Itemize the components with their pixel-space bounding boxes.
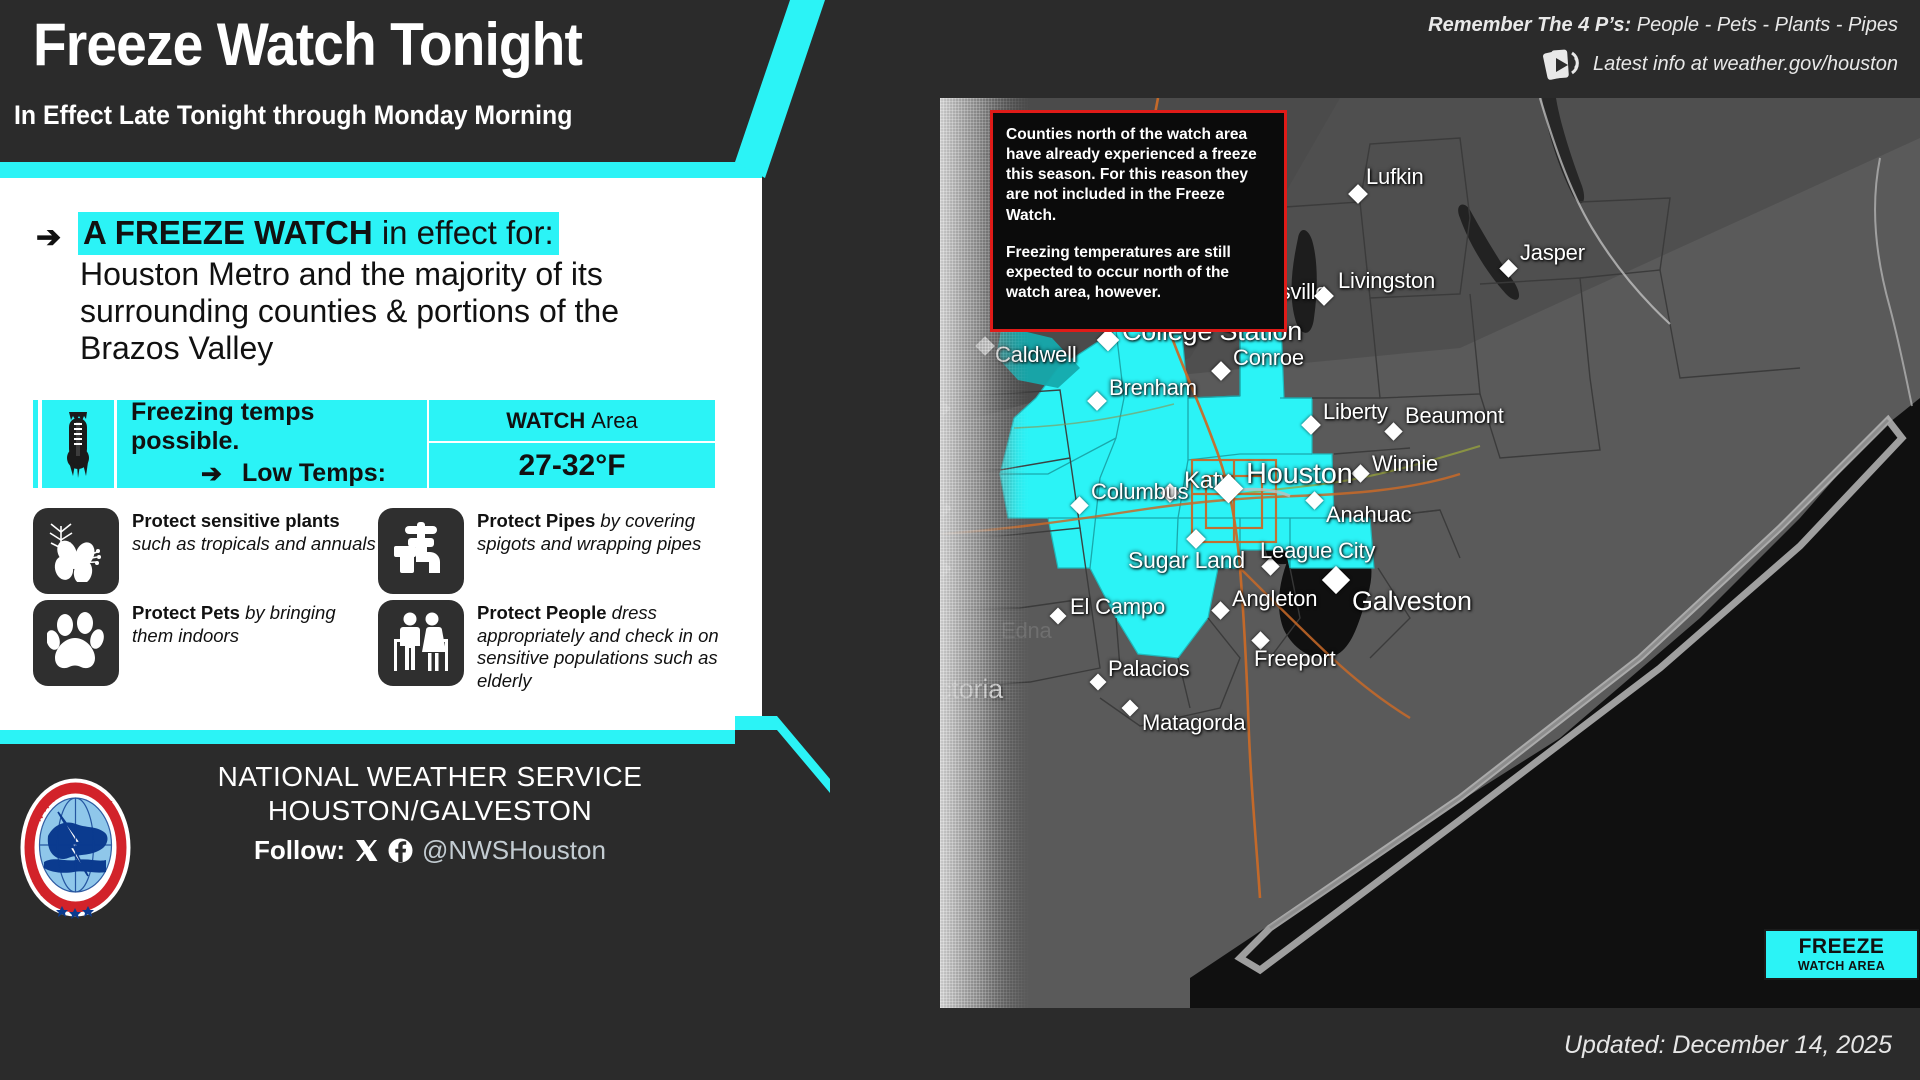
map-city-label: Angleton: [1232, 586, 1317, 612]
low-temps-label: Low Temps:: [242, 459, 386, 488]
tip-text: Protect Pipes by covering spigots and wr…: [477, 508, 743, 594]
tip-title: Protect People: [477, 602, 607, 623]
map-city-label: League City: [1260, 538, 1375, 564]
tip-protect-pipes: Protect Pipes by covering spigots and wr…: [378, 508, 743, 594]
map-city-label: El Campo: [1070, 594, 1165, 620]
map-legend: FREEZE WATCH AREA: [1764, 929, 1919, 980]
watch-headline-bold: A FREEZE WATCH: [83, 214, 373, 251]
thermometer-icon: [55, 410, 101, 478]
tip-title: Protect sensitive plants: [132, 510, 340, 531]
map-city-label: Jasper: [1520, 240, 1585, 266]
tip-title: Protect Pipes: [477, 510, 595, 531]
svg-text:H: H: [116, 850, 126, 857]
bullet-arrow-icon: ➔: [36, 220, 61, 255]
map-city-label: Palacios: [1108, 656, 1190, 682]
map-city-label: Anahuac: [1326, 502, 1411, 528]
legend-subtitle: WATCH AREA: [1768, 959, 1915, 973]
svg-text:N: N: [76, 782, 83, 792]
header-cyan-divider: [0, 162, 762, 178]
map-city-label: Brenham: [1109, 375, 1197, 401]
people-icon: [392, 611, 450, 675]
low-temps-table: Freezing temps possible. ➔ Low Temps: WA…: [33, 400, 715, 488]
thermometer-icon-cell: [42, 400, 114, 488]
watch-area-header-rest: Area: [591, 408, 637, 434]
freezing-temps-label: Freezing temps possible.: [131, 398, 417, 456]
facebook-icon[interactable]: [388, 838, 413, 863]
tip-protect-plants: Protect sensitive plants such as tropica…: [33, 508, 378, 594]
faucet-icon-box: [378, 508, 464, 594]
watch-headline: A FREEZE WATCH in effect for:: [78, 212, 559, 255]
map-note-paragraph-1: Counties north of the watch area have al…: [1006, 125, 1271, 226]
map-city-label: Liberty: [1323, 399, 1388, 425]
tip-text: Protect sensitive plants such as tropica…: [132, 508, 378, 594]
map-city-label: Sugar Land: [1128, 547, 1245, 574]
table-accent-bar: [33, 400, 38, 488]
map-city-label: Matagorda: [1142, 710, 1245, 736]
tip-text: Protect Pets by bringing them indoors: [132, 600, 378, 692]
tip-title: Protect Pets: [132, 602, 240, 623]
map-city-label: Columbus: [1091, 479, 1188, 505]
office-line-1: NATIONAL WEATHER SERVICE: [150, 760, 710, 794]
map-city-label: Livingston: [1338, 268, 1435, 294]
tip-protect-pets: Protect Pets by bringing them indoors: [33, 600, 378, 692]
footer-text-block: NATIONAL WEATHER SERVICE HOUSTON/GALVEST…: [150, 760, 710, 866]
nws-seal-icon: N A T I O N A L W E A T H E R S E R V I: [18, 776, 133, 919]
paw-icon-box: [33, 600, 119, 686]
social-handle[interactable]: @NWSHouston: [422, 835, 606, 866]
footer-cyan-divider: [0, 730, 762, 744]
footer-bar: N A T I O N A L W E A T H E R S E R V I: [0, 744, 790, 1080]
watch-area-header-bold: WATCH: [506, 408, 585, 434]
map-city-label: Freeport: [1254, 646, 1336, 672]
low-temps-arrow-icon: ➔: [201, 459, 222, 489]
page-subtitle: In Effect Late Tonight through Monday Mo…: [14, 100, 572, 131]
page-title: Freeze Watch Tonight: [33, 10, 582, 79]
flower-icon-box: [33, 508, 119, 594]
watch-area-value: 27-32°F: [429, 443, 715, 488]
faucet-icon: [390, 522, 452, 580]
map-panel[interactable]: Waco Hearne CrockettLufkinMadisonvilleJa…: [940, 98, 1920, 1008]
header-corner-notch: [735, 0, 825, 180]
watch-headline-rest: in effect for:: [373, 214, 554, 251]
header-bar: Freeze Watch Tonight In Effect Late Toni…: [0, 0, 790, 162]
watch-area-column: WATCHArea 27-32°F: [429, 400, 715, 488]
flower-icon: [45, 520, 107, 582]
mobile-alert-icon: [1543, 47, 1585, 81]
map-city-label: Conroe: [1233, 345, 1304, 371]
map-city-label: Galveston: [1352, 586, 1472, 617]
tip-text: Protect People dress appropriately and c…: [477, 600, 743, 692]
four-ps-line: Remember The 4 P’s: People - Pets - Plan…: [1428, 14, 1898, 37]
follow-label: Follow:: [254, 835, 345, 866]
four-ps-block: Remember The 4 P’s: People - Pets - Plan…: [1428, 14, 1898, 81]
tip-protect-people: Protect People dress appropriately and c…: [378, 600, 743, 692]
map-note-paragraph-2: Freezing temperatures are still expected…: [1006, 243, 1271, 303]
watch-area-header: WATCHArea: [429, 400, 715, 441]
map-city-label: Lufkin: [1366, 164, 1424, 190]
office-line-2: HOUSTON/GALVESTON: [150, 794, 710, 828]
map-note-callout: Counties north of the watch area have al…: [990, 110, 1287, 332]
map-city-label: Houston: [1246, 458, 1353, 491]
low-temps-labels: Freezing temps possible. ➔ Low Temps:: [117, 400, 427, 488]
low-temps-row: ➔ Low Temps:: [131, 459, 417, 489]
paw-icon: [47, 612, 105, 674]
four-ps-list: People - Pets - Plants - Pipes: [1637, 14, 1898, 36]
latest-info-line[interactable]: Latest info at weather.gov/houston: [1428, 47, 1898, 81]
x-twitter-icon[interactable]: [354, 838, 379, 863]
latest-info-text: Latest info at weather.gov/houston: [1593, 53, 1898, 76]
watch-body-text: Houston Metro and the majority of its su…: [80, 256, 720, 366]
map-city-label: Beaumont: [1405, 403, 1504, 429]
updated-timestamp: Updated: December 14, 2025: [1564, 1031, 1892, 1060]
map-city-label: Winnie: [1372, 451, 1438, 477]
infographic-root: Waco Hearne CrockettLufkinMadisonvilleJa…: [0, 0, 1920, 1080]
legend-title: FREEZE: [1768, 935, 1915, 959]
left-content-panel: ➔ A FREEZE WATCH in effect for: Houston …: [0, 178, 762, 730]
footer-corner-notch: [735, 705, 830, 830]
tip-detail: such as tropicals and annuals: [132, 533, 376, 554]
follow-row: Follow: @NWSHouston: [150, 835, 710, 866]
protection-tips-grid: Protect sensitive plants such as tropica…: [33, 508, 743, 692]
people-icon-box: [378, 600, 464, 686]
four-ps-label: Remember The 4 P’s:: [1428, 14, 1631, 36]
